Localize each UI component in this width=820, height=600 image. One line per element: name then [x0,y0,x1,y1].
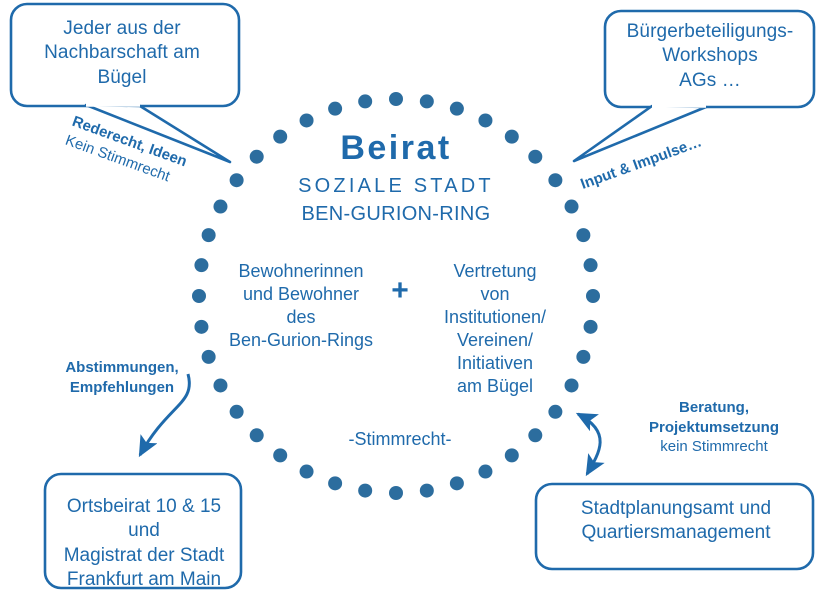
ring-dot [192,289,206,303]
ring-dot [230,405,244,419]
core-subtitle-secondary: BEN-GURION-RING [246,202,546,228]
ring-dot [300,113,314,127]
ring-dot [586,289,600,303]
arrow-southeast-bidirectional [578,414,600,474]
ring-dot [584,320,598,334]
ring-dot [213,378,227,392]
plus-icon: + [382,276,418,306]
edge-label-southwest-strong: Abstimmungen, Empfehlungen [47,358,197,397]
bubble-northwest-label: Jeder aus der Nachbarschaft am Bügel [12,17,232,90]
bubble-northeast-label: Bürgerbeteiligungs- Workshops AGs … [607,20,813,93]
ring-dot [548,405,562,419]
ring-dot [250,428,264,442]
edge-label-southeast-strong: Beratung, Projektumsetzung [626,398,802,437]
ring-dot [194,258,208,272]
core-subtitle-primary: SOZIALE STADT [246,174,546,200]
ring-dot [450,102,464,116]
ring-dot [478,113,492,127]
ring-dot [576,228,590,242]
core-column-residents: Bewohnerinnen und Bewohner des Ben-Gurio… [212,260,390,352]
ring-dot [194,320,208,334]
ring-dot [300,465,314,479]
ring-dot [389,486,403,500]
ring-dot [358,94,372,108]
ring-dot [389,92,403,106]
core-voting-note: -Stimmrecht- [310,428,490,451]
core-title: Beirat [246,127,546,171]
box-southeast-label: Stadtplanungsamt und Quartiersmanagement [540,497,812,546]
ring-dot [230,173,244,187]
ring-dot [478,465,492,479]
ring-dot [548,173,562,187]
ring-dot [328,476,342,490]
ring-dot [420,94,434,108]
core-column-institutions: Vertretung von Institutionen/ Vereinen/ … [416,260,574,398]
box-southwest-label: Ortsbeirat 10 & 15 und Magistrat der Sta… [46,495,242,592]
ring-dot [565,200,579,214]
ring-dot [505,448,519,462]
ring-dot [420,484,434,498]
ring-dot [273,448,287,462]
ring-dot [528,428,542,442]
ring-dot [584,258,598,272]
edge-label-southwest: Abstimmungen, Empfehlungen [47,358,197,397]
edge-label-southeast: Beratung, Projektumsetzung kein Stimmrec… [626,398,802,457]
ring-dot [328,102,342,116]
ring-dot [576,350,590,364]
ring-dot [202,228,216,242]
ring-dot [358,484,372,498]
diagram-canvas: Jeder aus der Nachbarschaft am Bügel Bür… [0,0,820,600]
edge-label-southeast-light: kein Stimmrecht [626,437,802,457]
ring-dot [450,476,464,490]
ring-dot [213,200,227,214]
